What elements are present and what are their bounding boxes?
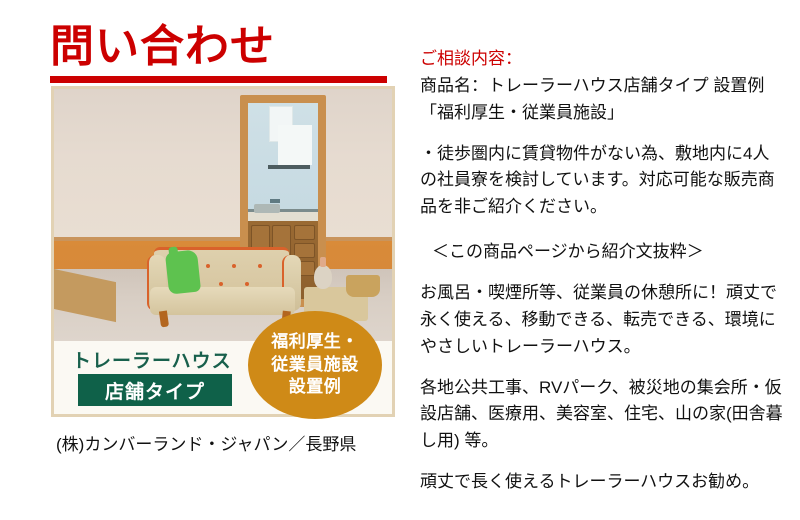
inquiry-text-column: ご相談内容： 商品名：トレーラーハウス店舗タイプ 設置例「福利厚生・従業員施設」… (420, 46, 786, 496)
page-title: 問い合わせ (50, 24, 275, 70)
photo-sofa-tuft (245, 282, 249, 286)
photo-jug (314, 265, 332, 289)
interior-room-photo (54, 89, 392, 341)
photo-basket (346, 275, 380, 297)
photo-kitchen-window (278, 125, 312, 165)
photo-sofa-tuft (232, 264, 236, 268)
inquiry-heading: ご相談内容： (420, 46, 786, 73)
badge-line-3: 設置例 (289, 376, 342, 398)
excerpt-paragraph-1: お風呂・喫煙所等、従業員の休憩所に！頑丈で永く使える、移動できる、転売できる、環… (420, 280, 786, 361)
spacer (420, 127, 786, 141)
photo-upper-wall (54, 89, 392, 241)
title-underline-rule (50, 76, 387, 83)
photo-kitchen-faucet (270, 199, 280, 203)
photo-cabinet-drawer (294, 225, 315, 240)
photo-kitchen-shelf (268, 165, 310, 169)
excerpt-heading: ＜この商品ページから紹介文抜粋＞ (420, 239, 786, 266)
inquiry-request-text: ・徒歩圏内に賃貸物件がない為、敷地内に4人の社員寮を検討しています。対応可能な販… (420, 141, 786, 222)
photo-sofa-tuft (219, 282, 223, 286)
left-column: 問い合わせ (0, 0, 410, 520)
spacer (420, 361, 786, 375)
badge-line-1: 福利厚生・ (271, 331, 359, 353)
spacer (420, 266, 786, 280)
badge-line-2: 従業員施設 (271, 354, 359, 376)
product-label: トレーラーハウス (72, 346, 232, 373)
excerpt-paragraph-2: 各地公共工事、RVパーク、被災地の集会所・仮設店舗、医療用、美容室、住宅、山の家… (420, 375, 786, 456)
photo-kitchen-sink (254, 204, 280, 213)
photo-sofa-tuft (206, 264, 210, 268)
page-root: 問い合わせ (0, 0, 800, 520)
excerpt-paragraph-3: 頑丈で長く使えるトレーラーハウスお勧め。 (420, 469, 786, 496)
spacer (420, 221, 786, 239)
product-type-chip: 店舗タイプ (78, 374, 232, 406)
photo-green-cushion (165, 249, 201, 294)
use-case-badge: 福利厚生・ 従業員施設 設置例 (248, 311, 382, 419)
photo-credit: (株)カンバーランド・ジャパン／長野県 (56, 430, 356, 455)
inquiry-product-line: 商品名：トレーラーハウス店舗タイプ 設置例「福利厚生・従業員施設」 (420, 73, 786, 127)
spacer (420, 455, 786, 469)
photo-sofa-tuft (258, 264, 262, 268)
